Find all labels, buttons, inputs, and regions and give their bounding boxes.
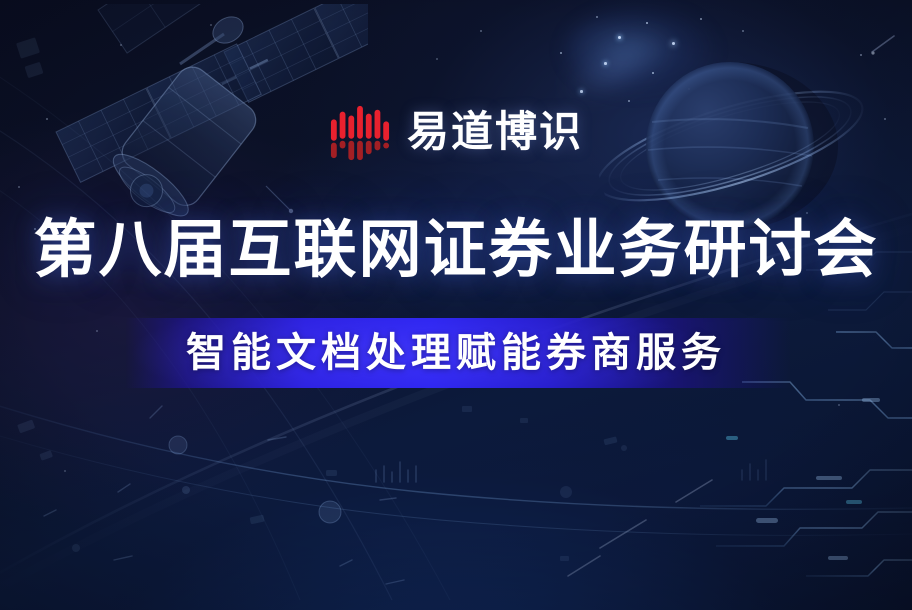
- poster-canvas: 易道博识 第八届互联网证券业务研讨会 智能文档处理赋能券商服务: [0, 0, 912, 610]
- vignette-overlay: [0, 0, 912, 610]
